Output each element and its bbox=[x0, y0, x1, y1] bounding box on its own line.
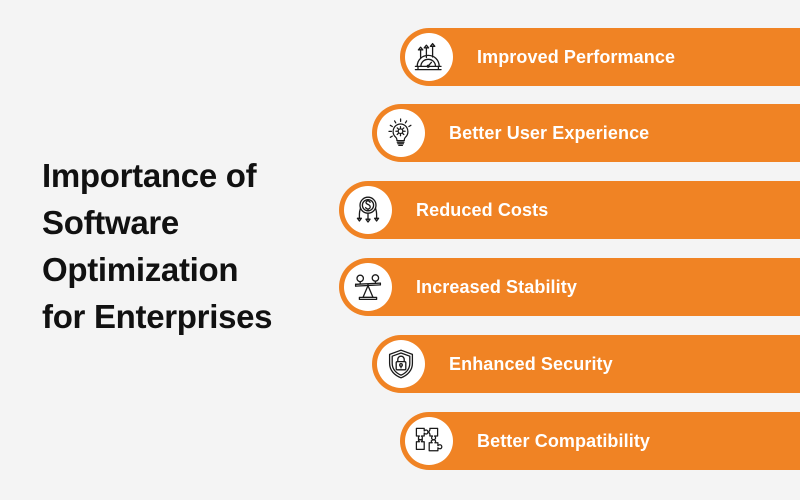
benefits-list: Improved Performance bbox=[0, 0, 800, 500]
benefit-item-increased-stability[interactable]: Increased Stability bbox=[339, 258, 800, 316]
benefit-label: Better Compatibility bbox=[477, 431, 650, 452]
shield-padlock-icon bbox=[377, 340, 425, 388]
benefit-item-improved-performance[interactable]: Improved Performance bbox=[400, 28, 800, 86]
benefit-label: Better User Experience bbox=[449, 123, 649, 144]
benefit-item-enhanced-security[interactable]: Enhanced Security bbox=[372, 335, 800, 393]
benefit-label: Enhanced Security bbox=[449, 354, 613, 375]
benefit-label: Reduced Costs bbox=[416, 200, 548, 221]
lightbulb-head-gear-icon bbox=[377, 109, 425, 157]
benefit-item-reduced-costs[interactable]: Reduced Costs bbox=[339, 181, 800, 239]
benefit-item-better-compatibility[interactable]: Better Compatibility bbox=[400, 412, 800, 470]
dollar-coin-down-arrows-icon bbox=[344, 186, 392, 234]
benefit-label: Improved Performance bbox=[477, 47, 675, 68]
benefit-label: Increased Stability bbox=[416, 277, 577, 298]
balance-scale-icon bbox=[344, 263, 392, 311]
performance-growth-gauge-icon bbox=[405, 33, 453, 81]
puzzle-pieces-icon bbox=[405, 417, 453, 465]
benefit-item-better-user-experience[interactable]: Better User Experience bbox=[372, 104, 800, 162]
